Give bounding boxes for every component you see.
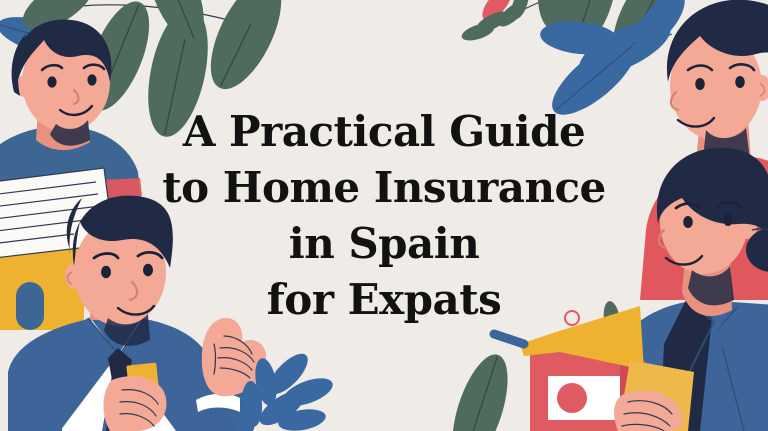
person-bottom-right [0, 0, 768, 431]
cover-image: A Practical Guide to Home Insurance in S… [0, 0, 768, 431]
